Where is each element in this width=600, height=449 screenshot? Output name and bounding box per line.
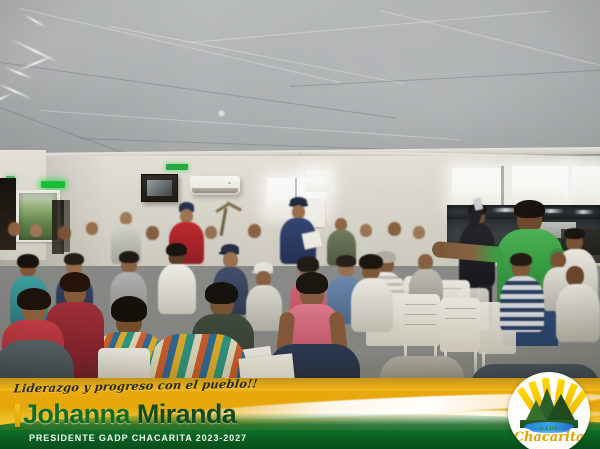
- banner-name-accent-bar: [15, 404, 20, 427]
- exit-sign-secondary: [166, 164, 188, 170]
- meeting-photograph: [0, 0, 600, 400]
- logo-circle: GADP Chacarita: [508, 372, 590, 449]
- chacarita-logo: GADP Chacarita: [508, 380, 592, 446]
- phone-icon: [473, 197, 484, 211]
- air-conditioner-led: [228, 182, 231, 184]
- banner-name-last: Miranda: [137, 399, 236, 429]
- banner-name: JohannaMiranda: [23, 400, 236, 429]
- banner-subtitle: PRESIDENTE GADP CHACARITA 2023-2027: [29, 433, 247, 443]
- ceiling-light-dot: [218, 110, 225, 117]
- logo-wordmark: Chacarita: [508, 430, 590, 445]
- logo-mountain-left: [525, 400, 547, 422]
- logo-mountain-front: [546, 394, 576, 422]
- screenshot-root: Liderazgo y progreso con el pueblo!! Joh…: [0, 0, 600, 449]
- banner-name-first: Johanna: [23, 399, 130, 429]
